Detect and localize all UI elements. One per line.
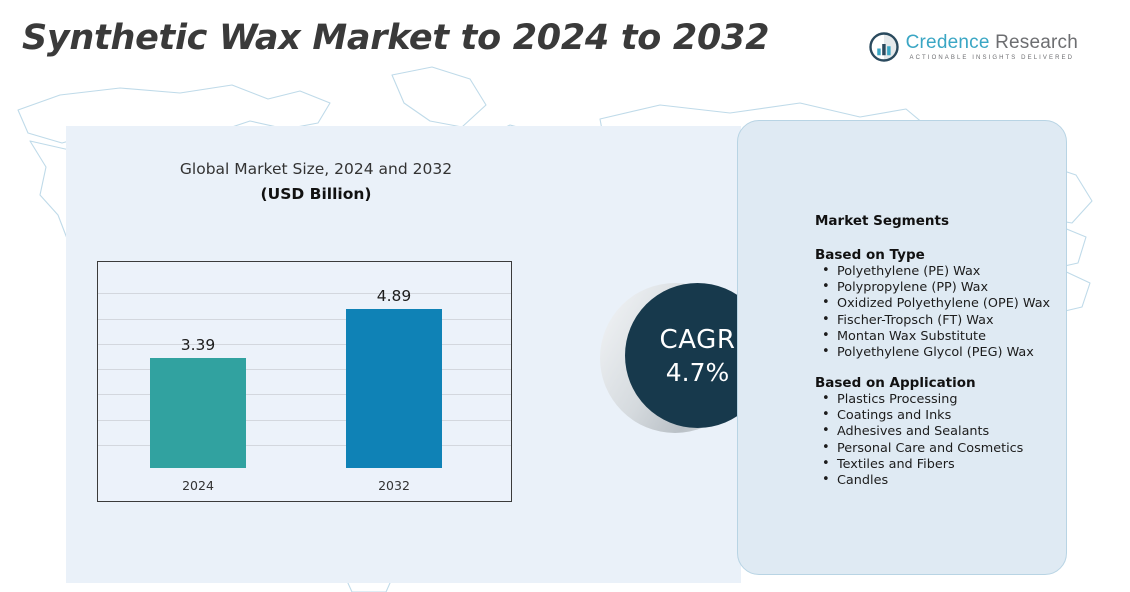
segment-group-application: Based on Application Plastics Processing…	[815, 375, 1065, 489]
segment-list-type: Polyethylene (PE) Wax Polypropylene (PP)…	[815, 264, 1065, 361]
list-item: Polypropylene (PP) Wax	[815, 280, 1065, 296]
list-item: Fischer-Tropsch (FT) Wax	[815, 313, 1065, 329]
list-item: Adhesives and Sealants	[815, 424, 1065, 440]
brand-logo-text: Credence Research ACTIONABLE INSIGHTS DE…	[906, 33, 1078, 61]
page-title: Synthetic Wax Market to 2024 to 2032	[22, 18, 769, 58]
segment-group-type-title: Based on Type	[815, 247, 1065, 263]
list-item: Polyethylene Glycol (PEG) Wax	[815, 345, 1065, 361]
brand-logo: Credence Research ACTIONABLE INSIGHTS DE…	[869, 32, 1078, 62]
segment-list-application: Plastics ProcessingCoatings and InksAdhe…	[815, 392, 1065, 489]
segment-group-application-title: Based on Application	[815, 375, 1065, 391]
category-label-2032: 2032	[346, 478, 442, 493]
chart-title: Global Market Size, 2024 and 2032	[66, 160, 566, 178]
chart-subtitle: (USD Billion)	[66, 185, 566, 203]
list-item: Plastics Processing	[815, 392, 1065, 408]
infographic-canvas: Synthetic Wax Market to 2024 to 2032 Cre…	[0, 0, 1130, 592]
list-item: Montan Wax Substitute	[815, 329, 1065, 345]
market-segments-title: Market Segments	[815, 213, 949, 229]
list-item: Polyethylene (PE) Wax	[815, 264, 1065, 280]
brand-name-second: Research	[995, 32, 1078, 53]
category-label-2024: 2024	[150, 478, 246, 493]
brand-tagline: ACTIONABLE INSIGHTS DELIVERED	[906, 55, 1078, 61]
bar-chart: 3.39 4.89 2024 2032	[97, 261, 512, 502]
bar-value-2032: 4.89	[346, 287, 442, 305]
bar-value-2024: 3.39	[150, 336, 246, 354]
chart-plot-area: 3.39 4.89	[98, 262, 511, 468]
list-item: Oxidized Polyethylene (OPE) Wax	[815, 296, 1065, 312]
brand-name: Credence Research	[906, 33, 1078, 52]
segment-group-type: Based on Type Polyethylene (PE) Wax Poly…	[815, 247, 1065, 361]
brand-name-first: Credence	[906, 32, 990, 53]
list-item: Textiles and Fibers	[815, 457, 1065, 473]
list-item: Personal Care and Cosmetics	[815, 441, 1065, 457]
bar-chart-circle-logo-icon	[869, 32, 899, 62]
bar-2032	[346, 309, 442, 468]
cagr-label: CAGR	[659, 325, 735, 355]
cagr-value: 4.7%	[666, 358, 730, 387]
bar-2024	[150, 358, 246, 468]
list-item: Candles	[815, 473, 1065, 489]
list-item: Coatings and Inks	[815, 408, 1065, 424]
